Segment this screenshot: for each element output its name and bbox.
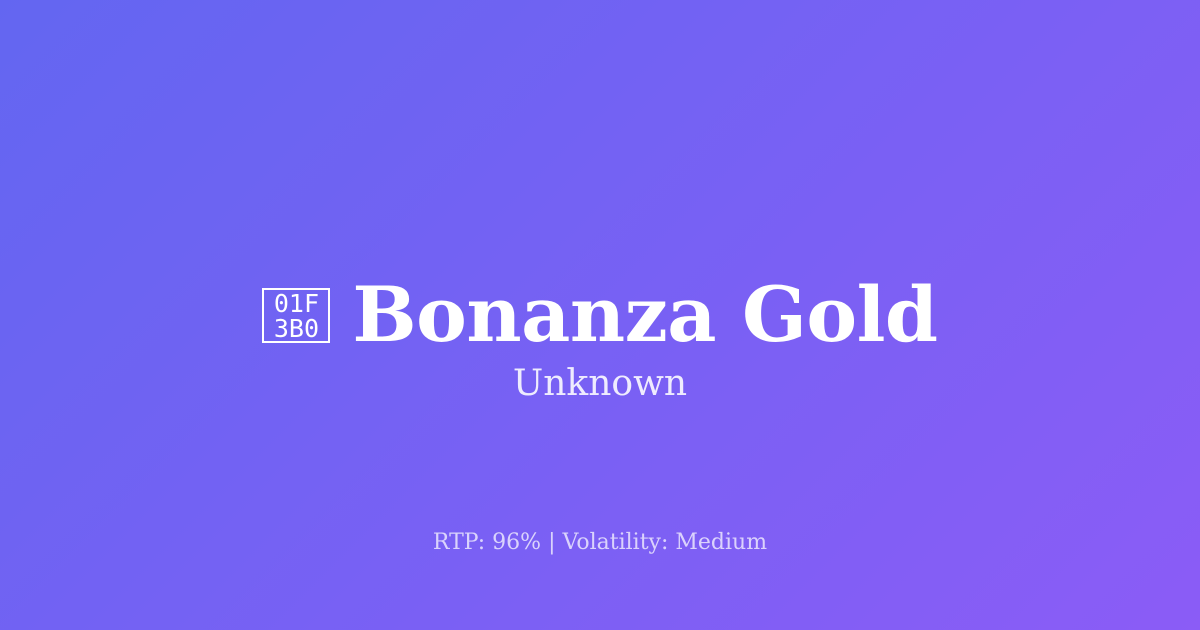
game-stats-line: RTP: 96% | Volatility: Medium (0, 528, 1200, 558)
tofu-hex-top: 01F (274, 291, 319, 316)
game-provider-subtitle: Unknown (0, 362, 1200, 406)
slot-machine-icon: 01F 3B0 (262, 288, 330, 343)
page-title: Bonanza Gold (352, 275, 937, 355)
tofu-hex-bottom: 3B0 (274, 316, 319, 341)
game-og-card: 01F 3B0 Bonanza Gold Unknown RTP: 96% | … (0, 0, 1200, 630)
headline-row: 01F 3B0 Bonanza Gold (0, 275, 1200, 355)
